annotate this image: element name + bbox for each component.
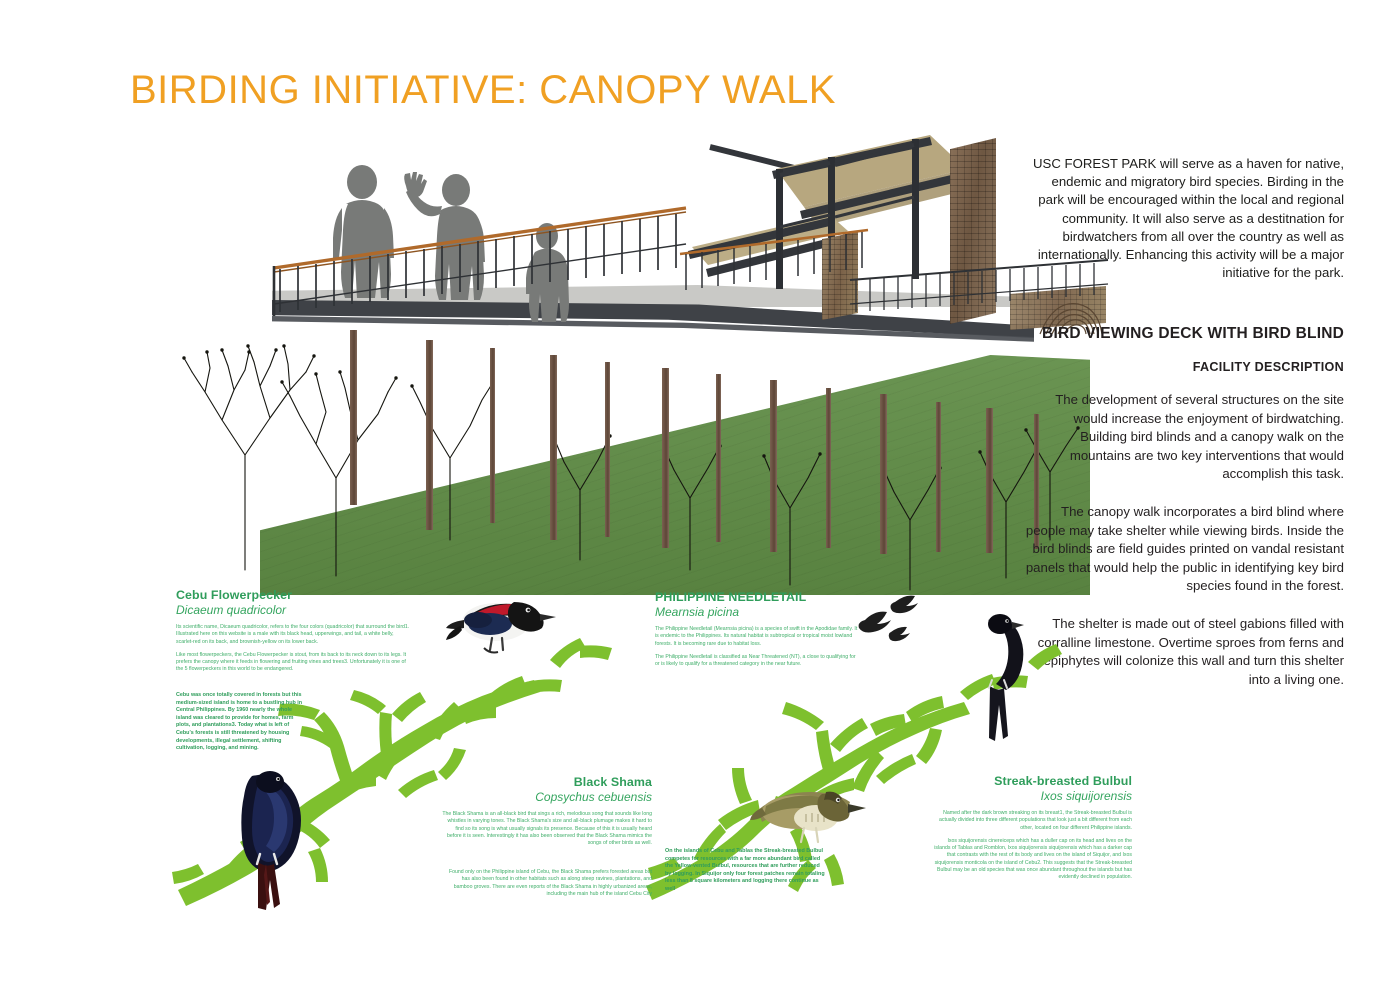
species-name: PHILIPPINE NEEDLETAIL: [655, 590, 860, 604]
cebu-flowerpecker-illustration: [444, 588, 564, 658]
description-paragraph-1: The development of several structures on…: [1024, 391, 1344, 483]
support-post: [550, 355, 557, 540]
support-post: [426, 340, 433, 530]
walkway-railing-mid: [680, 228, 870, 308]
species-panel-streak-breasted-bulbul: Streak-breasted Bulbul Ixos siquijorensi…: [930, 774, 1132, 882]
highlight-bulbul-competition: On the islands of Cebu and Tablas the St…: [665, 848, 825, 894]
species-panel-philippine-needletail: PHILIPPINE NEEDLETAIL Mearnsia picina Th…: [655, 590, 860, 668]
walkway-railing-left: [270, 200, 690, 330]
support-post: [986, 408, 993, 553]
species-paragraph: The Black Shama is an all-black bird tha…: [440, 811, 652, 847]
support-post: [662, 368, 669, 548]
support-post: [826, 388, 831, 548]
highlight-cebu-deforestation: Cebu was once totally covered in forests…: [176, 692, 308, 753]
species-panel-cebu-flowerpecker: Cebu Flowerpecker Dicaeum quadricolor It…: [176, 588, 411, 674]
species-latin-name: Ixos siquijorensis: [930, 789, 1132, 803]
species-latin-name: Copsychus cebuensis: [440, 790, 652, 804]
support-post: [770, 380, 777, 552]
presentation-board: BIRDING INITIATIVE: CANOPY WALK: [0, 0, 1400, 989]
species-description: Named after the dark brown streaking on …: [930, 810, 1132, 882]
philippine-needletail-illustration: [855, 592, 925, 652]
species-description: Its scientific name, Dicaeum quadricolor…: [176, 624, 411, 674]
species-paragraph: Like most flowerpeckers, the Cebu Flower…: [176, 652, 411, 674]
support-post: [716, 374, 721, 542]
support-post: [936, 402, 941, 552]
support-post: [490, 348, 495, 523]
support-post: [880, 394, 887, 554]
black-shama-illustration: [212, 770, 322, 910]
facility-heading: BIRD VIEWING DECK WITH BIRD BLIND: [1024, 324, 1344, 344]
species-paragraph: The Philippine Needletail is classified …: [655, 654, 860, 669]
highlight-black-shama-range: Found only on the Philippine island of C…: [443, 869, 652, 898]
species-panel-black-shama: Black Shama Copsychus cebuensis The Blac…: [440, 775, 652, 847]
description-paragraph-2: The canopy walk incorporates a bird blin…: [1024, 503, 1344, 595]
facility-subheading: FACILITY DESCRIPTION: [1024, 360, 1344, 374]
species-name: Black Shama: [440, 775, 652, 789]
species-paragraph: Named after the dark brown streaking on …: [930, 810, 1132, 832]
species-latin-name: Mearnsia picina: [655, 605, 860, 619]
needletail-perched-illustration: [960, 612, 1030, 742]
canopy-walk-render: [150, 140, 1110, 590]
species-description: The Philippine Needletail (Mearnsia pici…: [655, 626, 860, 668]
species-description: The Black Shama is an all-black bird tha…: [440, 811, 652, 847]
streak-breasted-bulbul-illustration: [750, 778, 870, 858]
page-title: BIRDING INITIATIVE: CANOPY WALK: [130, 68, 836, 113]
species-paragraph: Its scientific name, Dicaeum quadricolor…: [176, 624, 411, 646]
species-name: Cebu Flowerpecker: [176, 588, 411, 602]
species-paragraph: Ixos siquijorensis cinereiceps which has…: [930, 838, 1132, 882]
species-paragraph: The Philippine Needletail (Mearnsia pici…: [655, 626, 860, 648]
species-latin-name: Dicaeum quadricolor: [176, 603, 411, 617]
species-name: Streak-breasted Bulbul: [930, 774, 1132, 788]
intro-paragraph: USC FOREST PARK will serve as a haven fo…: [1024, 155, 1344, 282]
support-post: [605, 362, 610, 537]
support-post: [350, 330, 357, 505]
